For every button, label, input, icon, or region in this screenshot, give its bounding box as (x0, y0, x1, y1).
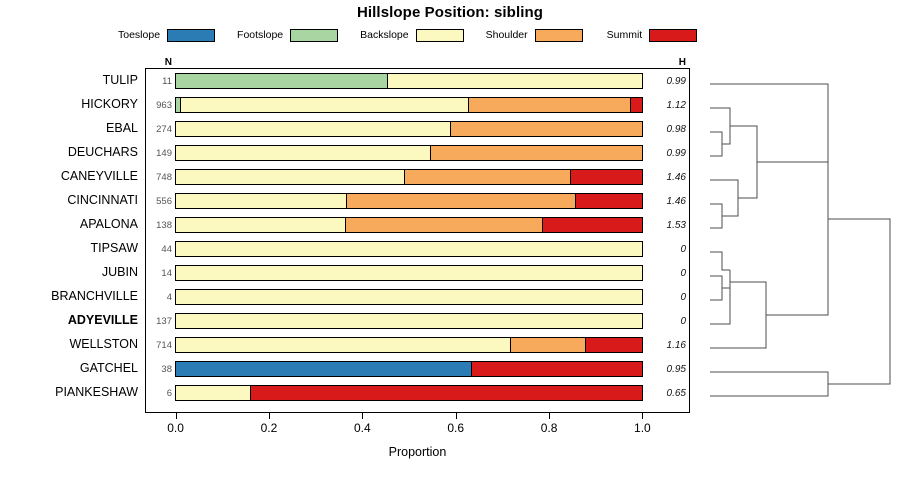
n-value: 137 (146, 309, 174, 333)
stacked-bar (175, 121, 643, 137)
table-row: 7481.46 (146, 165, 689, 189)
bar-segment-shoulder (468, 98, 631, 112)
bar-segment-summit (585, 338, 642, 352)
table-row: 9631.12 (146, 93, 689, 117)
table-row: 7141.16 (146, 333, 689, 357)
stacked-bar (175, 313, 643, 329)
h-value: 1.46 (645, 189, 689, 213)
bar-segment-backslope (387, 74, 642, 88)
y-axis-label: WELLSTON (69, 332, 138, 356)
bar-segment-backslope (176, 146, 430, 160)
legend-swatch (649, 29, 697, 42)
y-axis-label: JUBIN (102, 260, 138, 284)
x-axis-title: Proportion (145, 445, 690, 459)
legend-label: Footslope (237, 29, 283, 41)
table-row: 440 (146, 237, 689, 261)
h-value: 1.46 (645, 165, 689, 189)
legend-label: Summit (607, 29, 643, 41)
bar-segment-summit (542, 218, 642, 232)
stacked-bar (175, 217, 643, 233)
y-axis-label: TIPSAW (91, 236, 138, 260)
y-axis-label: GATCHEL (80, 356, 138, 380)
y-axis-label: CINCINNATI (67, 188, 138, 212)
n-value: 714 (146, 333, 174, 357)
n-value: 4 (146, 285, 174, 309)
table-row: 5561.46 (146, 189, 689, 213)
n-value: 14 (146, 261, 174, 285)
h-value: 0 (645, 237, 689, 261)
bar-segment-shoulder (404, 170, 570, 184)
bar-segment-shoulder (450, 122, 642, 136)
stacked-bar (175, 73, 643, 89)
legend-item-backslope: Backslope (360, 29, 463, 42)
x-axis-tick-label: 0.0 (167, 421, 184, 435)
x-axis-tick-label: 0.6 (447, 421, 464, 435)
legend-label: Toeslope (118, 29, 160, 41)
table-row: 1381.53 (146, 213, 689, 237)
bar-segment-backslope (180, 98, 468, 112)
bar-segment-backslope (176, 338, 510, 352)
h-value: 0.98 (645, 117, 689, 141)
table-row: 40 (146, 285, 689, 309)
y-axis-label: CANEYVILLE (61, 164, 138, 188)
x-axis-tick-label: 0.8 (541, 421, 558, 435)
bar-segment-summit (570, 170, 642, 184)
y-axis-label: PIANKESHAW (55, 380, 138, 404)
x-axis: Proportion 0.00.20.40.60.81.0 (145, 413, 690, 473)
bar-segment-shoulder (345, 218, 543, 232)
bar-segment-shoulder (510, 338, 585, 352)
y-axis-label: APALONA (80, 212, 138, 236)
legend-label: Shoulder (486, 29, 528, 41)
x-axis-tick (642, 413, 643, 419)
bar-segment-summit (630, 98, 642, 112)
stacked-bar-panel: 11N0.99H9631.122740.981490.997481.465561… (145, 68, 690, 413)
h-value: 0 (645, 309, 689, 333)
x-axis-tick-label: 0.2 (261, 421, 278, 435)
table-row: 11N0.99H (146, 69, 689, 93)
table-row: 1370 (146, 309, 689, 333)
stacked-bar (175, 337, 643, 353)
y-axis-label: ADYEVILLE (68, 308, 138, 332)
x-axis-tick (549, 413, 550, 419)
y-axis-label: EBAL (106, 116, 138, 140)
table-row: 2740.98 (146, 117, 689, 141)
table-row: 140 (146, 261, 689, 285)
bar-segment-shoulder (430, 146, 642, 160)
bar-segment-backslope (176, 122, 450, 136)
legend-swatch (290, 29, 338, 42)
h-value: 1.16 (645, 333, 689, 357)
x-axis-tick (456, 413, 457, 419)
bar-segment-backslope (176, 266, 642, 280)
bar-segment-summit (471, 362, 642, 376)
n-value: 38 (146, 357, 174, 381)
y-axis-label: TULIP (103, 68, 138, 92)
bar-segment-footslope (176, 74, 387, 88)
stacked-bar (175, 289, 643, 305)
n-value: 44 (146, 237, 174, 261)
legend-item-footslope: Footslope (237, 29, 338, 42)
bar-segment-toeslope (176, 362, 471, 376)
stacked-bar (175, 193, 643, 209)
table-row: 380.95 (146, 357, 689, 381)
page-title: Hillslope Position: sibling (0, 4, 900, 21)
legend-swatch (535, 29, 583, 42)
h-value: 0.95 (645, 357, 689, 381)
h-value: 0 (645, 285, 689, 309)
y-axis-labels: TULIPHICKORYEBALDEUCHARSCANEYVILLECINCIN… (0, 68, 142, 413)
y-axis-label: HICKORY (81, 92, 138, 116)
bar-segment-backslope (176, 386, 250, 400)
n-value: 138 (146, 213, 174, 237)
x-axis-tick (176, 413, 177, 419)
stacked-bar (175, 145, 643, 161)
h-value: 0.99 (645, 141, 689, 165)
stacked-bar (175, 361, 643, 377)
h-value: 1.12 (645, 93, 689, 117)
bar-segment-backslope (176, 194, 346, 208)
bar-segment-summit (250, 386, 642, 400)
legend: ToeslopeFootslopeBackslopeShoulderSummit (118, 26, 738, 44)
stacked-bar (175, 385, 643, 401)
n-value: 149 (146, 141, 174, 165)
y-axis-label: DEUCHARS (68, 140, 138, 164)
bar-segment-backslope (176, 218, 345, 232)
h-value: 0 (645, 261, 689, 285)
n-value: 963 (146, 93, 174, 117)
legend-item-shoulder: Shoulder (486, 29, 583, 42)
dendrogram (700, 60, 895, 420)
stacked-bar (175, 97, 643, 113)
x-axis-tick (269, 413, 270, 419)
stacked-bar (175, 241, 643, 257)
table-row: 60.65 (146, 381, 689, 405)
bar-segment-shoulder (346, 194, 575, 208)
n-value: 11N (146, 69, 174, 93)
h-column-header: H (645, 57, 689, 68)
stacked-bar (175, 265, 643, 281)
n-value: 748 (146, 165, 174, 189)
h-value: 0.99H (645, 69, 689, 93)
dendrogram-svg (700, 60, 895, 420)
legend-swatch (167, 29, 215, 42)
legend-item-toeslope: Toeslope (118, 29, 215, 42)
n-column-header: N (146, 57, 174, 68)
h-value: 0.65 (645, 381, 689, 405)
bar-segment-backslope (176, 314, 642, 328)
n-value: 6 (146, 381, 174, 405)
legend-swatch (416, 29, 464, 42)
n-value: 274 (146, 117, 174, 141)
bar-segment-summit (575, 194, 642, 208)
n-value: 556 (146, 189, 174, 213)
bar-rows: 11N0.99H9631.122740.981490.997481.465561… (146, 69, 689, 412)
table-row: 1490.99 (146, 141, 689, 165)
stacked-bar (175, 169, 643, 185)
bar-segment-backslope (176, 290, 642, 304)
x-axis-tick-label: 1.0 (634, 421, 651, 435)
bar-segment-backslope (176, 170, 404, 184)
h-value: 1.53 (645, 213, 689, 237)
y-axis-label: BRANCHVILLE (51, 284, 138, 308)
legend-item-summit: Summit (607, 29, 698, 42)
bar-segment-backslope (176, 242, 642, 256)
legend-label: Backslope (360, 29, 408, 41)
x-axis-tick (362, 413, 363, 419)
x-axis-tick-label: 0.4 (354, 421, 371, 435)
